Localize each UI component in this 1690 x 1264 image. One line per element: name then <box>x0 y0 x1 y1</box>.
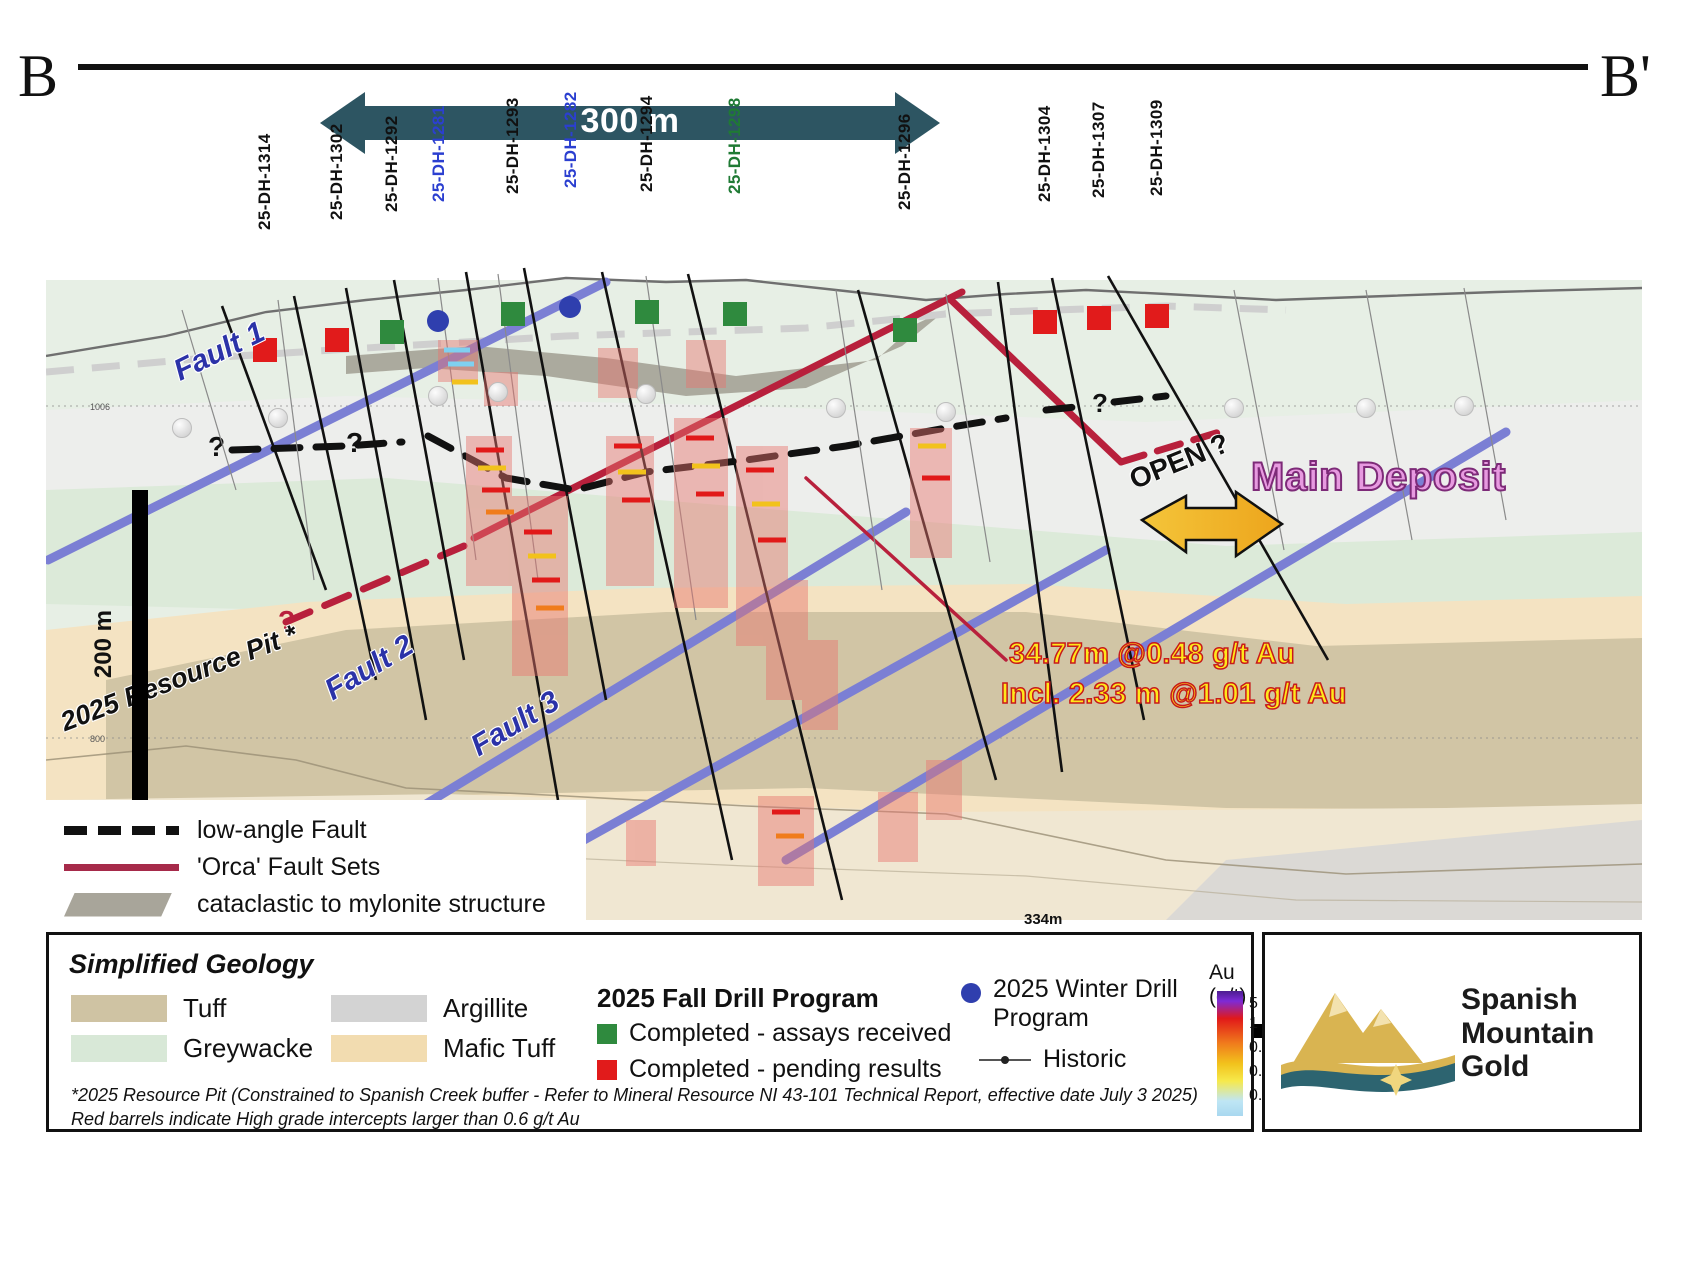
geology-item-argillite: Argillite <box>331 993 591 1024</box>
drill-collar-25-DH-1296[interactable] <box>893 318 917 342</box>
geology-label-argillite: Argillite <box>443 993 528 1024</box>
legend-row-cataclastic: cataclastic to mylonite structure <box>64 886 586 923</box>
drill-hole-label-25-DH-1292: 25-DH-1292 <box>382 102 402 212</box>
section-endpoint-label-b: B <box>18 46 58 106</box>
fall-program-title: 2025 Fall Drill Program <box>597 983 879 1014</box>
company-logo-panel: Spanish Mountain Gold <box>1262 932 1642 1132</box>
fault-query-3: ? <box>1092 388 1108 418</box>
logo-wordmark: Spanish Mountain Gold <box>1461 983 1594 1084</box>
depth-scale-label: 200 m <box>90 610 118 678</box>
geology-item-greywacke: Greywacke <box>71 1033 331 1064</box>
geology-legend-row: Greywacke Mafic Tuff <box>71 1033 591 1064</box>
simplified-geology-title: Simplified Geology <box>69 949 314 980</box>
drill-collar-25-DH-1292[interactable] <box>380 320 404 344</box>
section-line-header: B B' <box>0 28 1690 98</box>
drill-hole-label-25-DH-1282: 25-DH-1282 <box>561 78 581 188</box>
assay-callout-line-2: Incl. 2.33 m @1.01 g/t Au <box>1001 678 1347 711</box>
footnote-line-2: Red barrels indicate High grade intercep… <box>71 1107 1221 1131</box>
footnote-line-1: *2025 Resource Pit (Constrained to Spani… <box>71 1083 1221 1107</box>
geology-label-tuff: Tuff <box>183 993 226 1024</box>
drill-collar-25-DH-1304[interactable] <box>1033 310 1057 334</box>
drill-hole-label-25-DH-1293: 25-DH-1293 <box>503 84 523 194</box>
geology-legend-row: Tuff Argillite <box>71 993 591 1024</box>
legend-label-orca-fault-sets: 'Orca' Fault Sets <box>197 853 380 882</box>
fall-program-label-assays-received: Completed - assays received <box>629 1019 951 1048</box>
footnote: *2025 Resource Pit (Constrained to Spani… <box>71 1083 1221 1132</box>
geology-item-mafic-tuff: Mafic Tuff <box>331 1033 591 1064</box>
drill-collar-25-DH-1293[interactable] <box>501 302 525 326</box>
dashed-line-icon <box>64 826 179 835</box>
geology-swatch-mafic-tuff <box>331 1035 427 1062</box>
drill-collar-25-DH-1307[interactable] <box>1087 306 1111 330</box>
solid-line-icon <box>64 864 179 871</box>
fall-program-item-assays-received: Completed - assays received <box>597 1019 951 1048</box>
scale-arrow-label: 300 m <box>320 102 940 141</box>
geology-swatch-tuff <box>71 995 167 1022</box>
historic-collar-marker <box>936 402 956 422</box>
winter-program-item: 2025 Winter Drill Program <box>961 975 1193 1033</box>
drill-hole-label-25-DH-1307: 25-DH-1307 <box>1089 88 1109 198</box>
drill-collar-25-DH-1302[interactable] <box>325 328 349 352</box>
au-tick-0: 5 <box>1249 995 1258 1013</box>
main-deposit-label: Main Deposit <box>1251 455 1506 500</box>
green-square-icon <box>597 1024 617 1044</box>
fault-query-2: ? <box>346 427 363 458</box>
svg-text:1006: 1006 <box>90 402 110 412</box>
logo-line-2: Mountain <box>1461 1017 1594 1050</box>
red-square-icon <box>597 1060 617 1080</box>
geology-swatch-argillite <box>331 995 427 1022</box>
legend-label-low-angle-fault: low-angle Fault <box>197 816 367 845</box>
winter-program-label: 2025 Winter Drill Program <box>993 975 1193 1033</box>
geology-item-tuff: Tuff <box>71 993 331 1024</box>
geology-label-mafic-tuff: Mafic Tuff <box>443 1033 555 1064</box>
fall-program-item-pending-results: Completed - pending results <box>597 1055 942 1084</box>
drill-hole-label-25-DH-1314: 25-DH-1314 <box>255 120 275 230</box>
drill-hole-label-25-DH-1304: 25-DH-1304 <box>1035 92 1055 202</box>
legend-label-cataclastic: cataclastic to mylonite structure <box>197 890 546 919</box>
depth-scale-bar <box>132 490 148 840</box>
end-of-hole-label: 334m <box>1024 911 1062 928</box>
historic-line-icon <box>979 1059 1031 1061</box>
polygon-swatch-icon <box>64 893 179 917</box>
historic-collar-marker <box>636 384 656 404</box>
historic-collar-marker <box>826 398 846 418</box>
historic-collar-marker <box>488 382 508 402</box>
legend-row-orca-fault-sets: 'Orca' Fault Sets <box>64 849 586 886</box>
au-tick-1: 1 <box>1249 1015 1258 1033</box>
assay-callout-line-1: 34.77m @0.48 g/t Au <box>1009 638 1295 671</box>
geology-swatch-greywacke <box>71 1035 167 1062</box>
fall-program-label-pending-results: Completed - pending results <box>629 1055 942 1084</box>
historic-collar-marker <box>1356 398 1376 418</box>
historic-collar-marker <box>172 418 192 438</box>
historic-collar-marker <box>268 408 288 428</box>
historic-label: Historic <box>1043 1045 1126 1074</box>
drill-collar-25-DH-1309[interactable] <box>1145 304 1169 328</box>
legend-row-low-angle-fault: low-angle Fault <box>64 812 586 849</box>
section-line <box>78 64 1588 70</box>
cross-section-figure: B B' 300 m <box>0 0 1690 1264</box>
logo-line-1: Spanish <box>1461 983 1578 1016</box>
historic-item: Historic <box>979 1045 1126 1074</box>
historic-collar-marker <box>1224 398 1244 418</box>
geology-legend-grid: Tuff Argillite Greywacke Mafic Tuff <box>71 993 591 1073</box>
structures-legend: low-angle Fault 'Orca' Fault Sets catacl… <box>46 800 586 920</box>
legend-panel: Simplified Geology Tuff Argillite Greywa… <box>46 932 1254 1132</box>
drill-collar-25-DH-1282[interactable] <box>559 296 581 318</box>
drill-collar-25-DH-1281[interactable] <box>427 310 449 332</box>
historic-collar-marker <box>1454 396 1474 416</box>
spanish-mountain-gold-logo: Spanish Mountain Gold <box>1265 935 1639 1129</box>
drill-hole-label-25-DH-1302: 25-DH-1302 <box>327 110 347 220</box>
drill-hole-label-25-DH-1309: 25-DH-1309 <box>1147 86 1167 196</box>
logo-line-3: Gold <box>1461 1050 1529 1083</box>
section-width-scale-arrow: 300 m <box>320 92 940 154</box>
drill-collar-25-DH-1298[interactable] <box>723 302 747 326</box>
blue-circle-icon <box>961 983 981 1003</box>
historic-collar-marker <box>428 386 448 406</box>
geology-label-greywacke: Greywacke <box>183 1033 313 1064</box>
section-endpoint-label-b-prime: B' <box>1600 46 1651 106</box>
drill-hole-label-25-DH-1294: 25-DH-1294 <box>637 82 657 192</box>
drill-collar-25-DH-1294[interactable] <box>635 300 659 324</box>
svg-text:800: 800 <box>90 734 105 744</box>
mountain-logo-icon <box>1273 959 1463 1109</box>
drill-hole-label-25-DH-1296: 25-DH-1296 <box>895 100 915 210</box>
drill-hole-label-25-DH-1298: 25-DH-1298 <box>725 84 745 194</box>
drill-hole-label-25-DH-1281: 25-DH-1281 <box>429 92 449 202</box>
